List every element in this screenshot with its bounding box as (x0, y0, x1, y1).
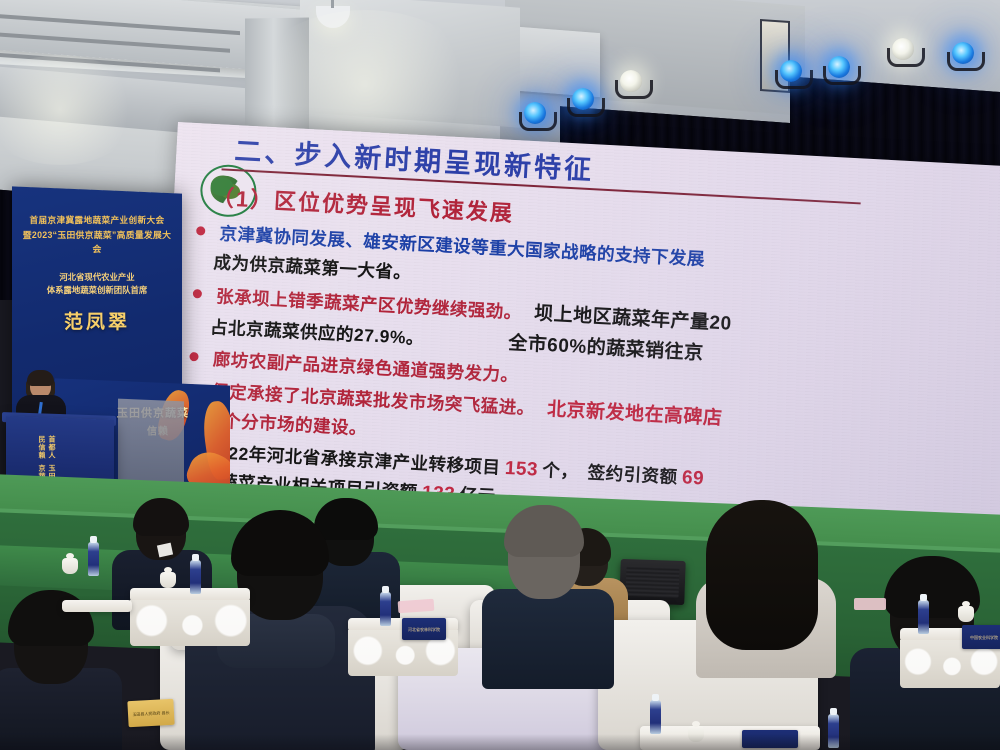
par-light-blue-icon (572, 88, 594, 110)
conference-hall-photo: 二、步入新时期呈现新特征 （1）区位优势呈现飞速发展 京津冀协同发展、雄安新区建… (0, 0, 1000, 750)
name-card: 河北省农林科学院 (402, 618, 446, 640)
presenter-hair-top (27, 370, 54, 386)
banner-line-3b: 体系露地蔬菜创新团队首席 (20, 284, 174, 297)
bullet-dot-icon (193, 289, 202, 298)
bullet-tail: 北京新发地在高碑店 (547, 399, 723, 429)
bullet-continuation: 占北京蔬菜供应的27.9%。 (210, 317, 425, 348)
banner-line-1: 首届京津冀露地蔬菜产业创新大会 (20, 214, 174, 227)
par-light-blue-icon (780, 60, 802, 82)
name-card-text: 中国农业科学院 (962, 625, 1000, 649)
foreground-vignette (0, 734, 1000, 750)
podium-column-1: 首都人民信赖 (36, 436, 56, 462)
banner-speaker-name: 范凤翠 (20, 307, 174, 334)
bullet-dot-icon (189, 352, 198, 361)
water-bottle-icon (380, 592, 391, 626)
person-hair (8, 590, 94, 646)
name-card: 中国农业科学院 (962, 625, 1000, 649)
water-bottle-icon (88, 542, 99, 576)
name-card-text: 河北省农林科学院 (402, 618, 446, 640)
tea-cup-icon (62, 558, 78, 574)
name-card: 玉田县人民政府 县长 (127, 699, 174, 727)
bullet-lead-after: 个， 签约引资额 (542, 460, 678, 487)
par-light-blue-icon (952, 42, 974, 64)
person-hair (231, 510, 329, 576)
person-hair (133, 498, 189, 536)
person-torso (482, 589, 614, 689)
tea-table-left-skirt (130, 600, 250, 646)
banner-line-2: 暨2023“玉田供京蔬菜”高质量发展大会 (20, 229, 174, 256)
audience-person (0, 590, 122, 750)
par-light-blue-icon (828, 56, 850, 78)
tea-table-far-left (62, 600, 132, 612)
tea-cup-icon (958, 606, 974, 622)
person-long-hair (706, 500, 818, 650)
floor-monitor-speaker (619, 559, 685, 605)
bullet-highlight-number: 153 (504, 458, 538, 481)
bullet-highlight-number-2: 69 (681, 467, 704, 489)
pink-handout-paper (854, 598, 886, 610)
par-light-white-icon (892, 38, 914, 60)
water-bottle-icon (918, 600, 929, 634)
bullet-continuation-tail: 全市60%的蔬菜销往京 (508, 333, 704, 364)
tea-cup-icon (160, 572, 176, 588)
bullet-dot-icon (196, 226, 205, 235)
water-bottle-icon (650, 700, 661, 734)
water-bottle-icon (190, 560, 201, 594)
banner-line-3a: 河北省现代农业产业 (20, 271, 174, 284)
pink-handout-paper (398, 599, 435, 613)
slide-subheading: （1）区位优势呈现飞速发展 (211, 180, 515, 228)
audience-person (700, 498, 830, 678)
person-hair-gray (504, 505, 584, 557)
par-light-blue-icon (524, 102, 546, 124)
par-light-white-icon (620, 70, 642, 92)
audience-person (492, 505, 604, 685)
name-card-text: 玉田县人民政府 县长 (127, 699, 174, 727)
backdrop-side-panel (118, 399, 184, 486)
